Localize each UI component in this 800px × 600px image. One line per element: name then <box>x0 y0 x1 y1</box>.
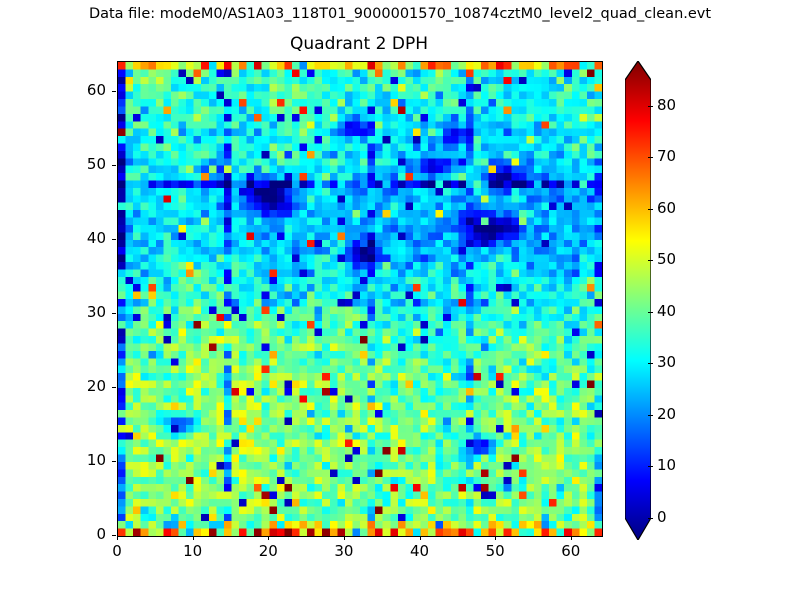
y-tick-mark <box>112 461 116 462</box>
x-tick-label: 20 <box>238 543 298 560</box>
x-tick-label: 0 <box>87 543 147 560</box>
y-tick-label: 30 <box>50 304 106 321</box>
y-tick-label: 20 <box>50 378 106 395</box>
colorbar-tick-mark <box>648 312 653 313</box>
y-tick-mark <box>112 535 116 536</box>
colorbar-tick-mark <box>648 157 653 158</box>
colorbar-tick-label: 70 <box>657 148 676 165</box>
x-tick-label: 60 <box>541 543 601 560</box>
y-tick-label: 60 <box>50 82 106 99</box>
colorbar-tick-mark <box>648 518 653 519</box>
data-file-suptitle: Data file: modeM0/AS1A03_118T01_90000015… <box>0 5 800 24</box>
heatmap-image <box>118 62 602 536</box>
x-tick-mark <box>344 536 345 540</box>
colorbar-tick-mark <box>648 209 653 210</box>
x-tick-mark <box>117 536 118 540</box>
x-tick-mark <box>193 536 194 540</box>
colorbar-tick-label: 20 <box>657 406 676 423</box>
y-tick-mark <box>112 91 116 92</box>
y-tick-label: 40 <box>50 230 106 247</box>
x-tick-mark <box>420 536 421 540</box>
y-tick-mark <box>112 165 116 166</box>
figure-canvas: Data file: modeM0/AS1A03_118T01_90000015… <box>0 0 800 600</box>
y-tick-mark <box>112 387 116 388</box>
plot-title: Quadrant 2 DPH <box>117 33 601 55</box>
colorbar-tick-label: 40 <box>657 303 676 320</box>
y-tick-label: 50 <box>50 156 106 173</box>
x-tick-mark <box>495 536 496 540</box>
heatmap-axes[interactable] <box>117 61 603 537</box>
colorbar-tick-mark <box>648 363 653 364</box>
colorbar-tick-label: 60 <box>657 200 676 217</box>
colorbar-tick-mark <box>648 415 653 416</box>
x-tick-label: 10 <box>163 543 223 560</box>
x-tick-label: 40 <box>390 543 450 560</box>
y-tick-label: 0 <box>50 526 106 543</box>
x-tick-label: 30 <box>314 543 374 560</box>
x-tick-label: 50 <box>465 543 525 560</box>
x-tick-mark <box>571 536 572 540</box>
colorbar-tick-label: 50 <box>657 251 676 268</box>
colorbar-tick-label: 10 <box>657 457 676 474</box>
colorbar[interactable] <box>625 61 651 540</box>
colorbar-tick-mark <box>648 466 653 467</box>
y-tick-mark <box>112 313 116 314</box>
colorbar-tick-label: 0 <box>657 509 667 526</box>
colorbar-tick-mark <box>648 106 653 107</box>
colorbar-tick-label: 30 <box>657 354 676 371</box>
colorbar-gradient <box>625 61 651 540</box>
x-tick-mark <box>268 536 269 540</box>
colorbar-tick-label: 80 <box>657 97 676 114</box>
y-tick-label: 10 <box>50 452 106 469</box>
y-tick-mark <box>112 239 116 240</box>
colorbar-tick-mark <box>648 260 653 261</box>
